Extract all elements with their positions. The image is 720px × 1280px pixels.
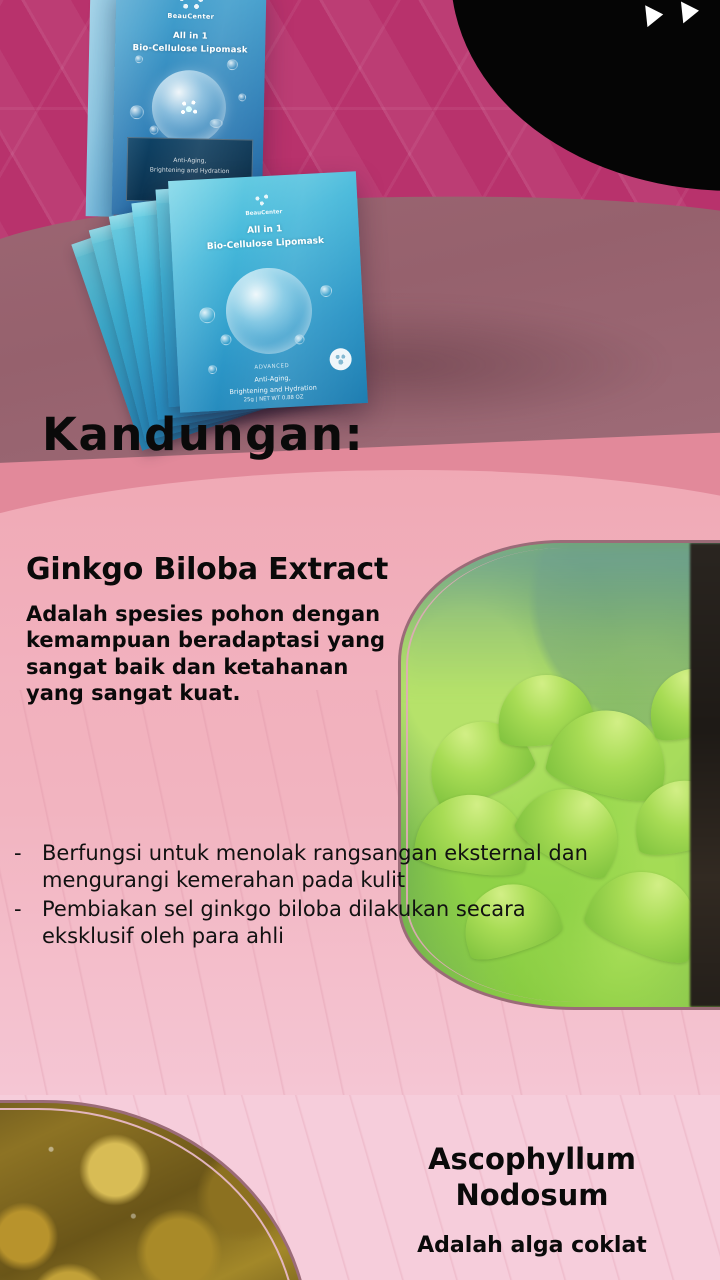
arrow-triangle-icon: [645, 3, 664, 27]
photo-highlight-overlay: [0, 1103, 307, 1280]
section-heading-ascophyllum: Ascophyllum Nodosum: [360, 1142, 704, 1214]
list-item-text: Pembiakan sel ginkgo biloba dilakukan se…: [42, 896, 594, 950]
sachet-sheen: [168, 171, 368, 413]
list-item-text: Berfungsi untuk menolak rangsangan ekste…: [42, 840, 594, 894]
ginkgo-bullet-list: - Berfungsi untuk menolak rangsangan eks…: [14, 840, 594, 952]
list-item: - Pembiakan sel ginkgo biloba dilakukan …: [14, 896, 594, 950]
product-sachet-front: BeauCenter All in 1 Bio-Cellulose Lipoma…: [168, 171, 368, 413]
section-body-ginkgo: Adalah spesies pohon dengan kemampuan be…: [26, 601, 406, 707]
bullet-dash-icon: -: [14, 840, 28, 894]
arrow-triangle-icon: [681, 0, 700, 23]
bullet-dash-icon: -: [14, 896, 28, 950]
photo-bokeh-overlay: [401, 543, 720, 693]
section-heading-ginkgo: Ginkgo Biloba Extract: [26, 552, 388, 587]
section-body-ascophyllum: Adalah alga coklat: [360, 1232, 704, 1259]
page-title: Kandungan:: [42, 408, 364, 461]
seaweed-photo: [0, 1100, 310, 1280]
list-item: - Berfungsi untuk menolak rangsangan eks…: [14, 840, 594, 894]
tree-trunk-shape: [690, 543, 720, 1007]
product-sachet-fan: BeauCenter All in 1 Bio-Cellulose Lipoma…: [96, 170, 496, 420]
poster-canvas: BeauCenter All in 1 Bio-Cellulose Lipoma…: [0, 0, 720, 1280]
